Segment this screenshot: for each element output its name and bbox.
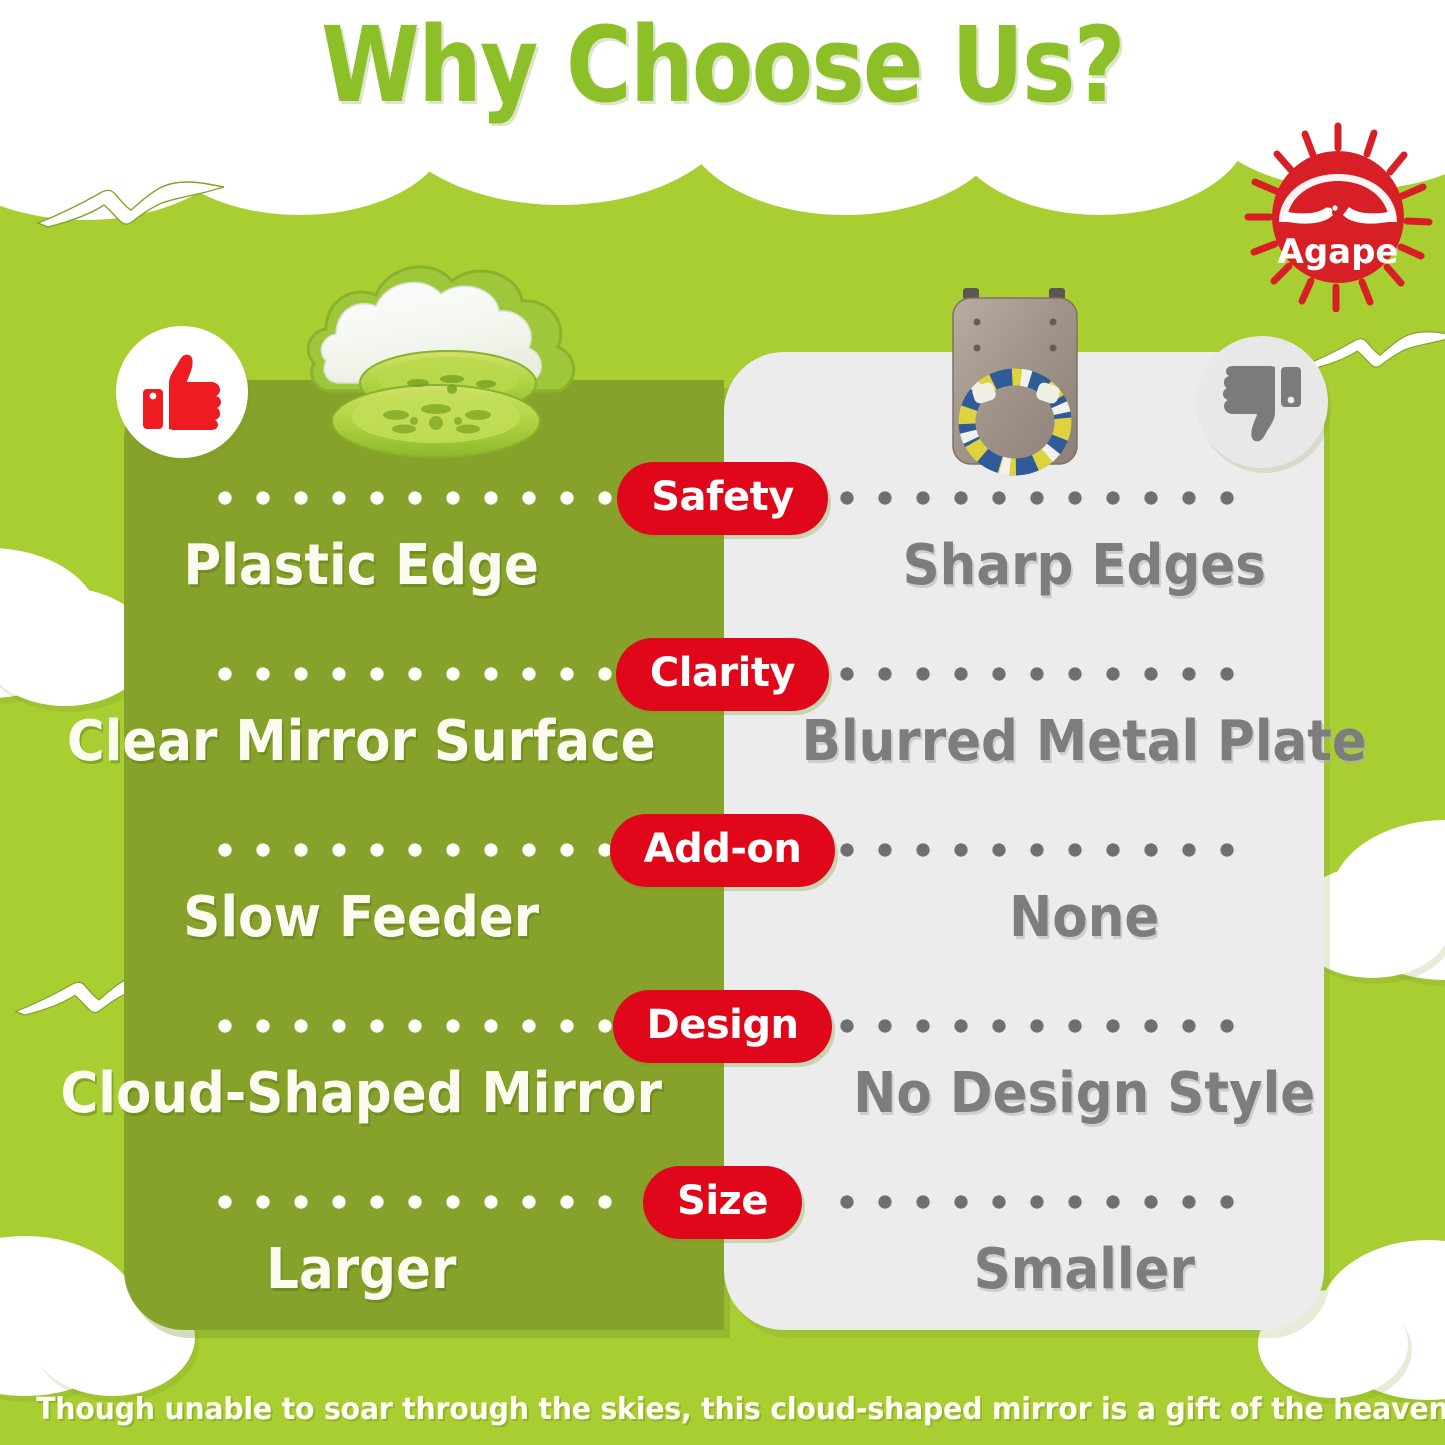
bird-silhouette-top-left [36, 168, 226, 230]
dotted-connector-right [838, 489, 1237, 507]
thumbs-down-icon [1219, 359, 1305, 445]
badge-line: Design [0, 994, 1445, 1058]
comparison-row: SafetyPlastic EdgeSharp Edges [0, 466, 1445, 594]
infographic-canvas: Why Choose Us? [0, 0, 1445, 1445]
con-value: None [751, 890, 1416, 946]
criterion-badge[interactable]: Add-on [610, 814, 836, 887]
dotted-connector-right [838, 841, 1237, 859]
pro-value: Cloud-Shaped Mirror [29, 1066, 694, 1122]
comparison-row: Add-onSlow FeederNone [0, 818, 1445, 946]
criterion-badge[interactable]: Design [613, 990, 833, 1063]
dotted-connector-right [838, 1193, 1237, 1211]
brand-logo: Agape [1243, 122, 1433, 312]
badge-line: Clarity [0, 642, 1445, 706]
dotted-connector-right [838, 665, 1237, 683]
dotted-connector-left [216, 1193, 625, 1211]
pro-value: Clear Mirror Surface [29, 714, 694, 770]
badge-line: Size [0, 1170, 1445, 1234]
criterion-badge[interactable]: Safety [617, 462, 828, 535]
dotted-connector-left [216, 841, 625, 859]
logo-wordmark: Agape [1278, 232, 1399, 272]
page-title: Why Choose Us? [101, 4, 1344, 126]
con-value: Sharp Edges [751, 538, 1416, 594]
dotted-connector-left [216, 489, 625, 507]
criterion-badge[interactable]: Size [643, 1166, 802, 1239]
comparison-row: DesignCloud-Shaped MirrorNo Design Style [0, 994, 1445, 1122]
pro-value: Plastic Edge [29, 538, 694, 594]
con-value: Blurred Metal Plate [751, 714, 1416, 770]
product-image-metal-plate [925, 272, 1125, 487]
row-values: Slow FeederNone [0, 890, 1445, 946]
row-values: Clear Mirror SurfaceBlurred Metal Plate [0, 714, 1445, 770]
con-value: No Design Style [751, 1066, 1416, 1122]
bird-silhouette-right [1300, 320, 1445, 372]
comparison-row: SizeLargerSmaller [0, 1170, 1445, 1298]
pro-value: Slow Feeder [29, 890, 694, 946]
product-image-cloud-mirror [296, 243, 616, 458]
criterion-badge[interactable]: Clarity [616, 638, 829, 711]
row-values: LargerSmaller [0, 1242, 1445, 1298]
row-values: Cloud-Shaped MirrorNo Design Style [0, 1066, 1445, 1122]
dotted-connector-right [838, 1017, 1237, 1035]
badge-line: Add-on [0, 818, 1445, 882]
comparison-row: ClarityClear Mirror SurfaceBlurred Metal… [0, 642, 1445, 770]
badge-line: Safety [0, 466, 1445, 530]
thumbs-down-badge [1196, 336, 1328, 468]
dotted-connector-left [216, 1017, 625, 1035]
thumbs-up-badge [116, 326, 248, 458]
thumbs-up-icon [139, 349, 225, 435]
con-value: Smaller [751, 1242, 1416, 1298]
dotted-connector-left [216, 665, 625, 683]
footer-caption: Though unable to soar through the skies,… [36, 1392, 1409, 1427]
row-values: Plastic EdgeSharp Edges [0, 538, 1445, 594]
pro-value: Larger [29, 1242, 694, 1298]
